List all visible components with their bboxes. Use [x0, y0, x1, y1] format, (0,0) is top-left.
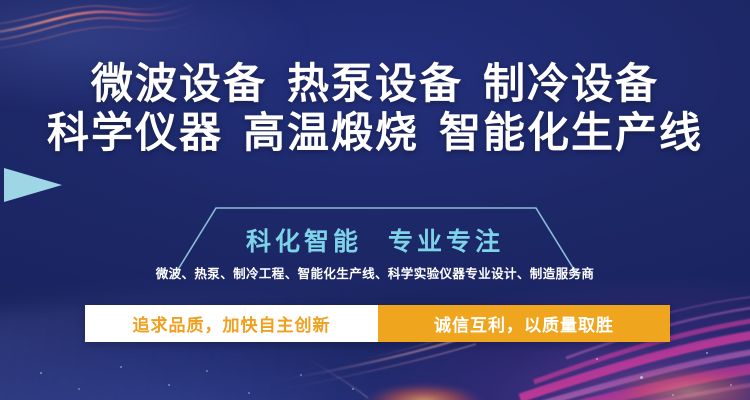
subtitle: 微波、热泵、制冷工程、智能化生产线、科学实验仪器专业设计、制造服务商: [0, 263, 750, 282]
tagline-bar-integrity[interactable]: 诚信互利，以质量取胜: [378, 305, 670, 342]
headline-line-2: 科学仪器高温煅烧智能化生产线: [0, 109, 750, 158]
page-title: 微波设备热泵设备制冷设备 科学仪器高温煅烧智能化生产线: [0, 60, 750, 157]
headline-line1-seg-2: 热泵设备: [287, 60, 463, 109]
headline-line-1: 微波设备热泵设备制冷设备: [0, 60, 750, 109]
triangle-right-icon-left: [4, 168, 62, 202]
tagline-bar-quality-label: 追求品质，加快自主创新: [133, 311, 331, 336]
headline-line1-seg-3: 制冷设备: [483, 60, 659, 109]
tagline-bars: 追求品质，加快自主创新 诚信互利，以质量取胜: [85, 305, 670, 342]
headline-line2-seg-2: 高温煅烧: [243, 109, 419, 158]
slogan-left: 科化智能: [246, 228, 362, 256]
slogan: 科化智能专业专注: [0, 222, 750, 258]
promo-banner: 微波设备热泵设备制冷设备 科学仪器高温煅烧智能化生产线 科化智能专业专注 微波、…: [0, 0, 750, 400]
headline-line1-seg-1: 微波设备: [91, 60, 267, 109]
headline-line2-seg-3: 智能化生产线: [439, 109, 703, 158]
tagline-bar-integrity-label: 诚信互利，以质量取胜: [434, 311, 614, 336]
slogan-right: 专业专注: [388, 228, 504, 256]
tagline-bar-quality[interactable]: 追求品质，加快自主创新: [85, 305, 378, 342]
headline-line2-seg-1: 科学仪器: [47, 109, 223, 158]
